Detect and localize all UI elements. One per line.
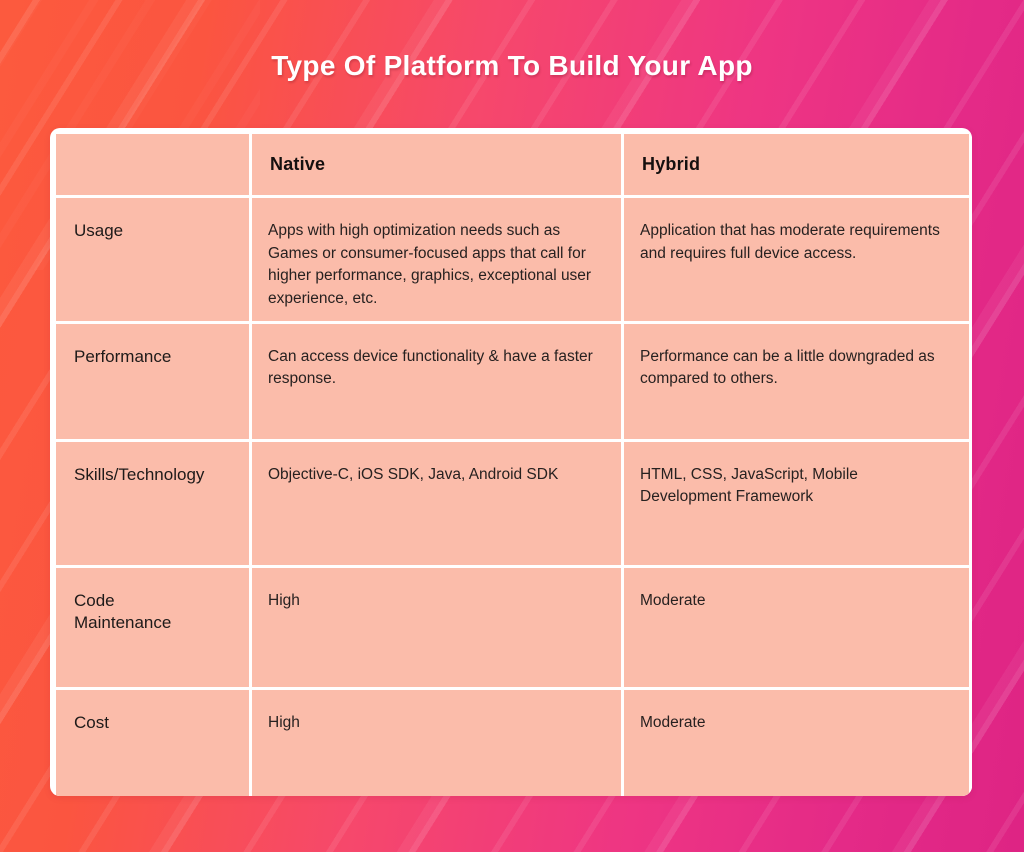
column-header-hybrid: Hybrid (623, 133, 971, 197)
cell-skills-hybrid: HTML, CSS, JavaScript, Mobile Developmen… (623, 440, 971, 566)
row-label-performance: Performance (55, 322, 251, 440)
cell-skills-native: Objective-C, iOS SDK, Java, Android SDK (251, 440, 623, 566)
row-label-skills-technology: Skills/Technology (55, 440, 251, 566)
infographic-page: Type Of Platform To Build Your App Nativ… (0, 0, 1024, 852)
cell-maintenance-native: High (251, 566, 623, 688)
cell-maintenance-hybrid: Moderate (623, 566, 971, 688)
cell-usage-hybrid: Application that has moderate requiremen… (623, 197, 971, 323)
page-title: Type Of Platform To Build Your App (0, 50, 1024, 82)
column-header-native: Native (251, 133, 623, 197)
cell-cost-native: High (251, 688, 623, 796)
table-row: Skills/Technology Objective-C, iOS SDK, … (55, 440, 971, 566)
row-label-cost: Cost (55, 688, 251, 796)
cell-cost-hybrid: Moderate (623, 688, 971, 796)
comparison-table: Native Hybrid Usage Apps with high optim… (53, 131, 972, 796)
table-row: Cost High Moderate (55, 688, 971, 796)
column-header-label (55, 133, 251, 197)
table-header-row: Native Hybrid (55, 133, 971, 197)
cell-usage-native: Apps with high optimization needs such a… (251, 197, 623, 323)
row-label-code-maintenance: Code Maintenance (55, 566, 251, 688)
cell-performance-hybrid: Performance can be a little downgraded a… (623, 322, 971, 440)
row-label-line: Maintenance (74, 612, 235, 635)
comparison-table-card: Native Hybrid Usage Apps with high optim… (50, 128, 972, 796)
table-row: Usage Apps with high optimization needs … (55, 197, 971, 323)
table-row: Performance Can access device functional… (55, 322, 971, 440)
row-label-usage: Usage (55, 197, 251, 323)
table-row: Code Maintenance High Moderate (55, 566, 971, 688)
row-label-line: Code (74, 590, 235, 613)
cell-performance-native: Can access device functionality & have a… (251, 322, 623, 440)
